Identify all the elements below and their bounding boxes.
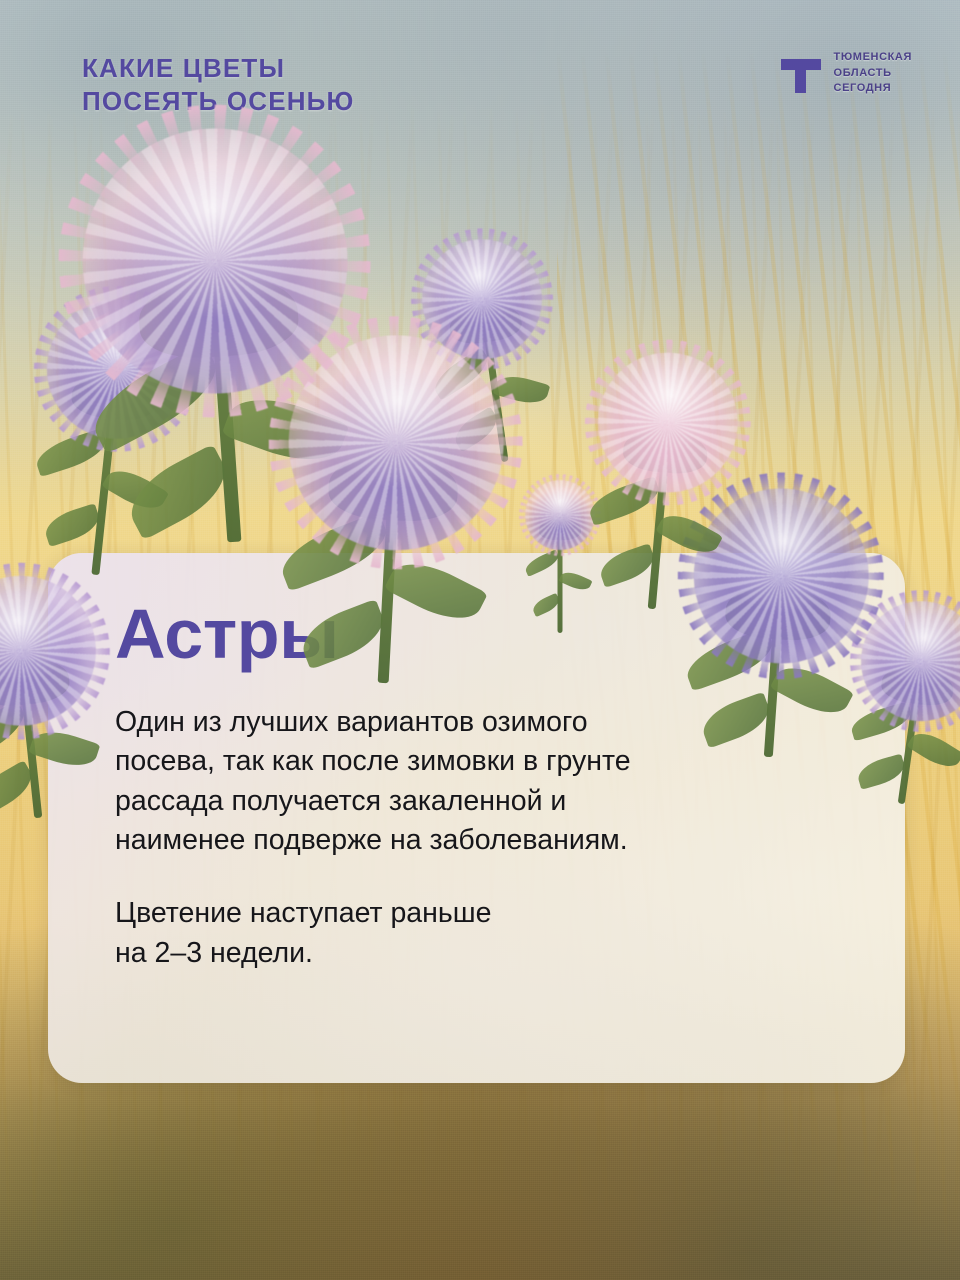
poster: КАКИЕ ЦВЕТЫ ПОСЕЯТЬ ОСЕНЬЮ ТЮМЕНСКАЯ ОБЛ… [0,0,960,1280]
flower-leaf [118,444,236,541]
brand-logo-text: ТЮМЕНСКАЯ ОБЛАСТЬ СЕГОДНЯ [834,50,912,97]
flower-bloom [282,330,508,556]
aster-flower [577,347,743,668]
flower-leaf [596,544,658,589]
t-monogram-icon [779,52,823,96]
flower-bloom [592,347,744,499]
aster-flower [271,330,508,771]
flower-leaf [655,507,722,561]
flower-leaf [294,598,390,669]
flower-leaf [696,692,774,749]
brand-logo[interactable]: ТЮМЕНСКАЯ ОБЛАСТЬ СЕГОДНЯ [779,50,912,97]
flower-leaf [906,726,960,774]
card-paragraph: Цветение наступает раньше на 2–3 недели. [115,894,815,973]
